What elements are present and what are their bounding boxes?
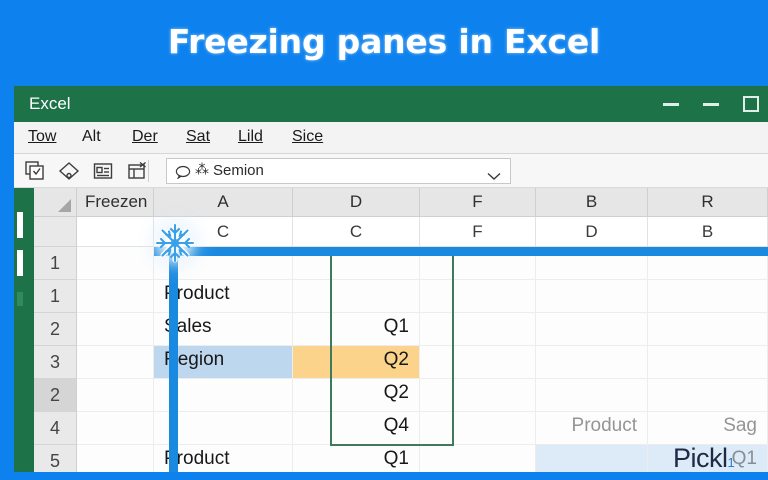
search-input[interactable]: ⁂ Semion	[166, 158, 511, 184]
maximize-icon	[743, 96, 759, 112]
toolbar-separator	[148, 160, 149, 182]
freeze-line-vertical[interactable]	[169, 247, 178, 480]
table-cell[interactable]	[77, 280, 154, 313]
maximize-button[interactable]	[734, 86, 768, 122]
table-cell[interactable]	[77, 313, 154, 346]
table-cell[interactable]	[420, 280, 536, 313]
toolbar: ⁂ Semion	[14, 154, 768, 188]
cell-text: Q1	[384, 448, 409, 470]
watermark-sub: 1	[728, 455, 735, 470]
subheader-b: D	[536, 217, 648, 247]
table-cell[interactable]	[536, 346, 648, 379]
select-all-corner[interactable]	[34, 188, 77, 217]
table-cell-active[interactable]: Q2	[293, 346, 420, 379]
column-header-b[interactable]: B	[536, 188, 648, 217]
cell-text: Q1	[384, 316, 409, 338]
column-header-r[interactable]: R	[648, 188, 768, 217]
restore-button[interactable]	[694, 86, 728, 122]
row-header-blank	[34, 217, 77, 247]
card-list-icon[interactable]	[92, 160, 114, 182]
menu-item-alt[interactable]: Alt	[82, 128, 101, 146]
home-shape-icon[interactable]	[58, 160, 80, 182]
table-cell[interactable]	[648, 379, 768, 412]
chevron-down-icon[interactable]	[487, 168, 501, 186]
menu-item-der[interactable]: Der	[132, 128, 158, 146]
sidebar-strip	[14, 188, 34, 480]
cell-text: Q2	[384, 382, 409, 404]
search-value: Semion	[213, 162, 264, 179]
column-header-d[interactable]: D	[293, 188, 420, 217]
table-cell[interactable]	[648, 346, 768, 379]
table-cell[interactable]	[77, 247, 154, 280]
speech-bubble-icon	[175, 165, 191, 184]
table-cell[interactable]	[536, 313, 648, 346]
copy-window-icon[interactable]	[24, 160, 46, 182]
table-cell[interactable]	[77, 346, 154, 379]
subheader-r: B	[648, 217, 768, 247]
row-header[interactable]: 1	[34, 280, 77, 313]
app-title: Excel	[29, 94, 71, 114]
window-bottom-bar	[14, 472, 768, 480]
minimize-icon	[663, 103, 679, 106]
watermark-logo: Pickl1	[673, 443, 734, 474]
cell-text: Product	[572, 415, 637, 437]
page-banner: Freezing panes in Excel	[0, 0, 768, 86]
minimize-button[interactable]	[654, 86, 688, 122]
spreadsheet-grid: Freezen A D F B R C C F D B 1 1 2 3 2 4 …	[34, 188, 768, 480]
page-title: Freezing panes in Excel	[0, 22, 768, 61]
subheader-freezen	[77, 217, 154, 247]
strip-mark-2	[17, 250, 23, 276]
select-all-triangle-icon	[58, 199, 71, 212]
restore-icon	[703, 103, 719, 106]
row-header[interactable]: 1	[34, 247, 77, 280]
table-cell[interactable]	[420, 412, 536, 445]
menu-item-sice[interactable]: Sice	[292, 128, 323, 146]
cell-text: Q4	[384, 415, 409, 437]
asterisk-icon: ⁂	[195, 162, 209, 178]
strip-mark-1	[17, 212, 23, 238]
subheader-a: C	[154, 217, 293, 247]
menu-item-sat[interactable]: Sat	[186, 128, 210, 146]
table-cell[interactable]: Q4	[293, 412, 420, 445]
subheader-f: F	[420, 217, 536, 247]
table-cell[interactable]	[536, 280, 648, 313]
subheader-d: C	[293, 217, 420, 247]
menu-item-lild[interactable]: Lild	[238, 128, 263, 146]
row-header[interactable]: 2	[34, 379, 77, 412]
cell-text: Q1	[732, 448, 757, 470]
table-cell[interactable]	[648, 280, 768, 313]
table-cell[interactable]: Q2	[293, 379, 420, 412]
cell-text: Sag	[723, 415, 757, 437]
column-header-f[interactable]: F	[420, 188, 536, 217]
table-cell[interactable]	[420, 346, 536, 379]
table-cell[interactable]	[420, 313, 536, 346]
table-cell[interactable]	[293, 280, 420, 313]
row-header[interactable]: 3	[34, 346, 77, 379]
watermark-text: Pickl	[673, 443, 728, 473]
freeze-panes-icon[interactable]	[126, 160, 148, 182]
strip-mark-3	[17, 292, 23, 306]
menu-bar: Tow Alt Der Sat Lild Sice	[14, 122, 768, 154]
cell-text: Q2	[384, 349, 409, 371]
table-cell[interactable]	[420, 379, 536, 412]
table-cell[interactable]	[536, 379, 648, 412]
row-header[interactable]: 4	[34, 412, 77, 445]
row-header[interactable]: 2	[34, 313, 77, 346]
table-cell[interactable]: Sag	[648, 412, 768, 445]
excel-window: Excel Tow Alt Der Sat Lild Sice	[14, 86, 768, 480]
title-bar: Excel	[14, 86, 768, 122]
column-header-a[interactable]: A	[154, 188, 293, 217]
excel-window-frame: Excel Tow Alt Der Sat Lild Sice	[0, 84, 768, 480]
table-cell[interactable]: Product	[536, 412, 648, 445]
column-header-freezen[interactable]: Freezen	[77, 188, 154, 217]
table-cell[interactable]	[77, 412, 154, 445]
freeze-line-horizontal[interactable]	[154, 247, 768, 256]
table-cell[interactable]	[77, 379, 154, 412]
table-cell[interactable]	[648, 313, 768, 346]
table-cell[interactable]: Q1	[293, 313, 420, 346]
menu-item-tow[interactable]: Tow	[28, 128, 56, 146]
